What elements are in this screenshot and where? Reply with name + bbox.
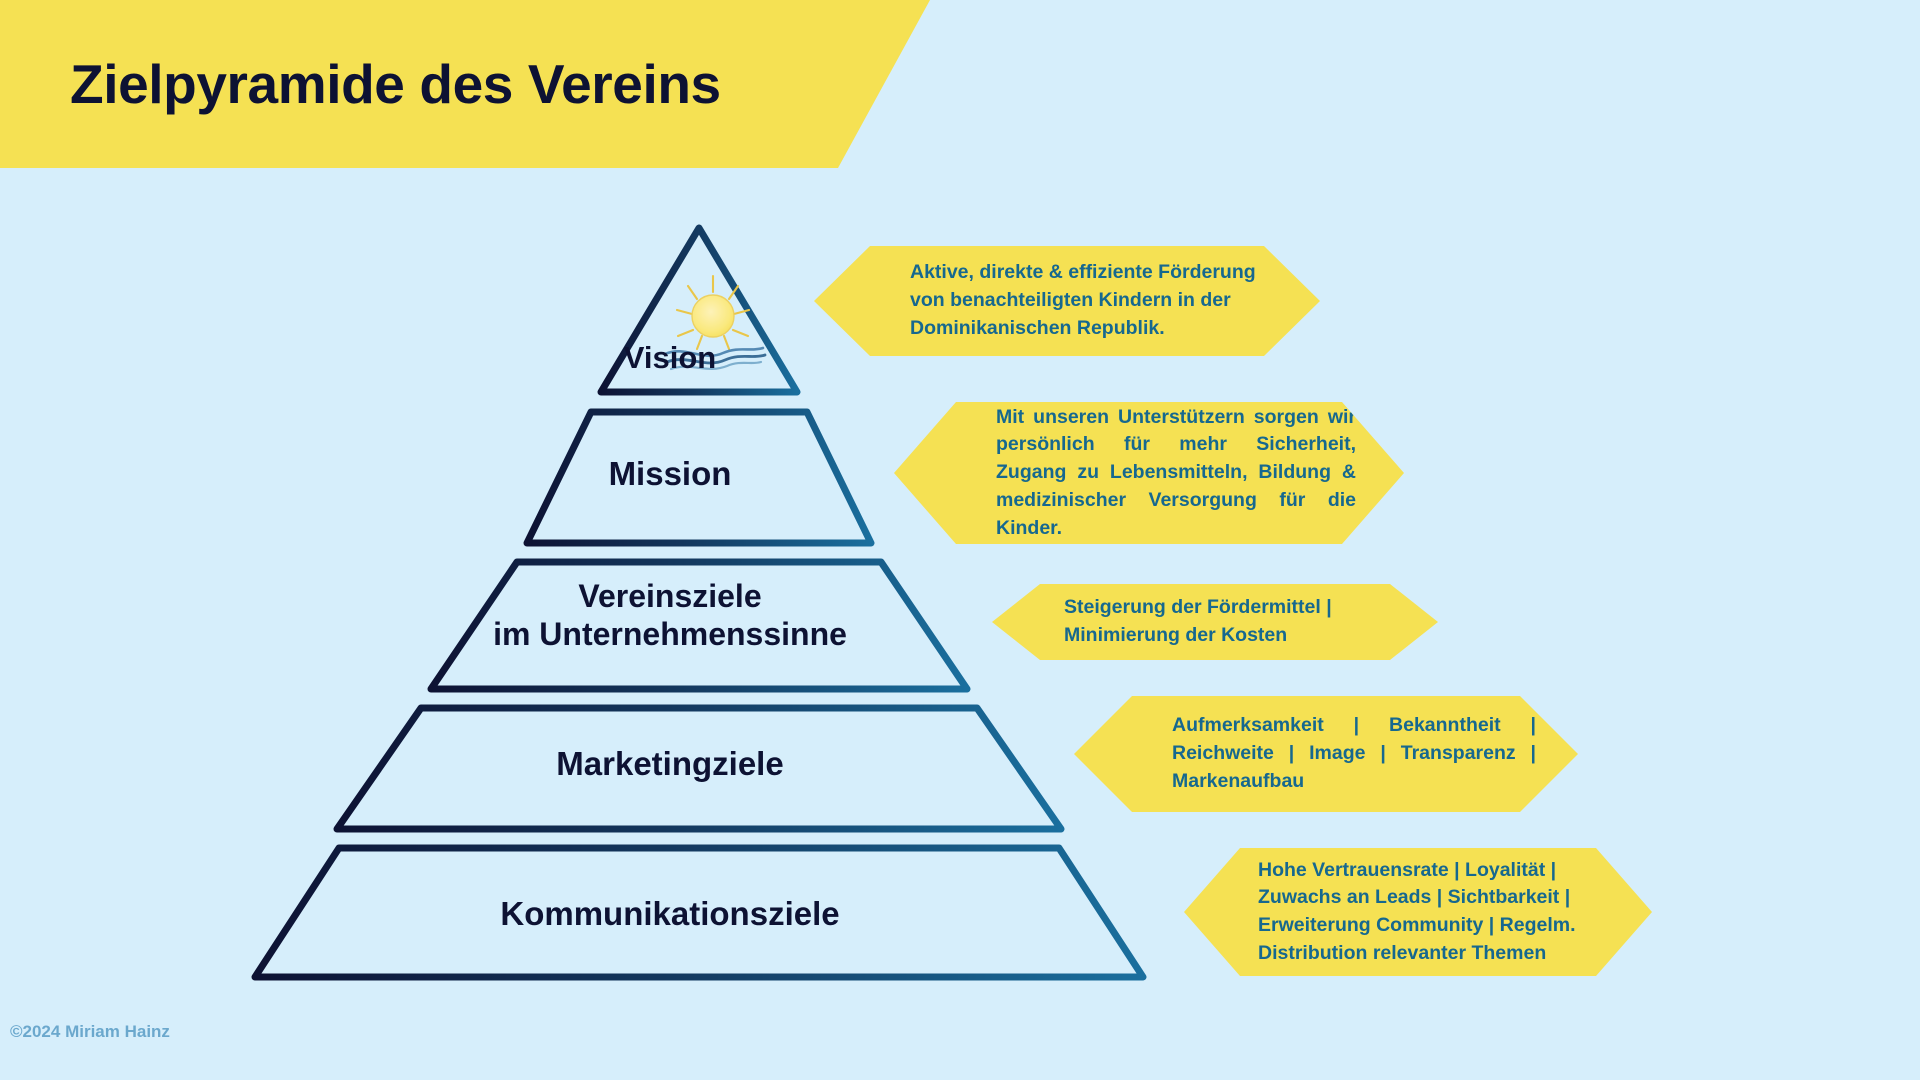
slide-canvas: Zielpyramide des Vereins: [0, 0, 1920, 1080]
pyramid-tier-label-marketingziele: Marketingziele: [450, 745, 890, 784]
callout-kommunikationsziele[interactable]: Hohe Vertrauensrate | Loyalität | Zuwach…: [1184, 848, 1652, 976]
callout-vision-text: Aktive, direkte & effiziente Förderung v…: [814, 259, 1320, 342]
pyramid-tier-label-vereinsziele: Vereinsziele im Unternehmenssinne: [430, 578, 910, 654]
copyright-notice: ©2024 Miriam Hainz: [10, 1022, 170, 1042]
callout-mission[interactable]: Mit unseren Unterstützern sorgen wir per…: [894, 402, 1404, 544]
pyramid-tier-label-mission: Mission: [520, 455, 820, 494]
callout-marketingziele-text: Aufmerksamkeit | Bekanntheit | Reichweit…: [1074, 712, 1578, 795]
page-title: Zielpyramide des Vereins: [70, 0, 721, 168]
pyramid-tier-label-vision: Vision: [545, 340, 795, 377]
callout-vereinsziele-text: Steigerung der Fördermittel | Minimierun…: [992, 594, 1438, 649]
callout-vision[interactable]: Aktive, direkte & effiziente Förderung v…: [814, 246, 1320, 356]
callout-kommunikationsziele-text: Hohe Vertrauensrate | Loyalität | Zuwach…: [1184, 857, 1652, 968]
pyramid-tier-label-kommunikationsziele: Kommunikationsziele: [400, 895, 940, 934]
callout-mission-text: Mit unseren Unterstützern sorgen wir per…: [894, 404, 1404, 542]
callout-vereinsziele[interactable]: Steigerung der Fördermittel | Minimierun…: [992, 584, 1438, 660]
callout-marketingziele[interactable]: Aufmerksamkeit | Bekanntheit | Reichweit…: [1074, 696, 1578, 812]
